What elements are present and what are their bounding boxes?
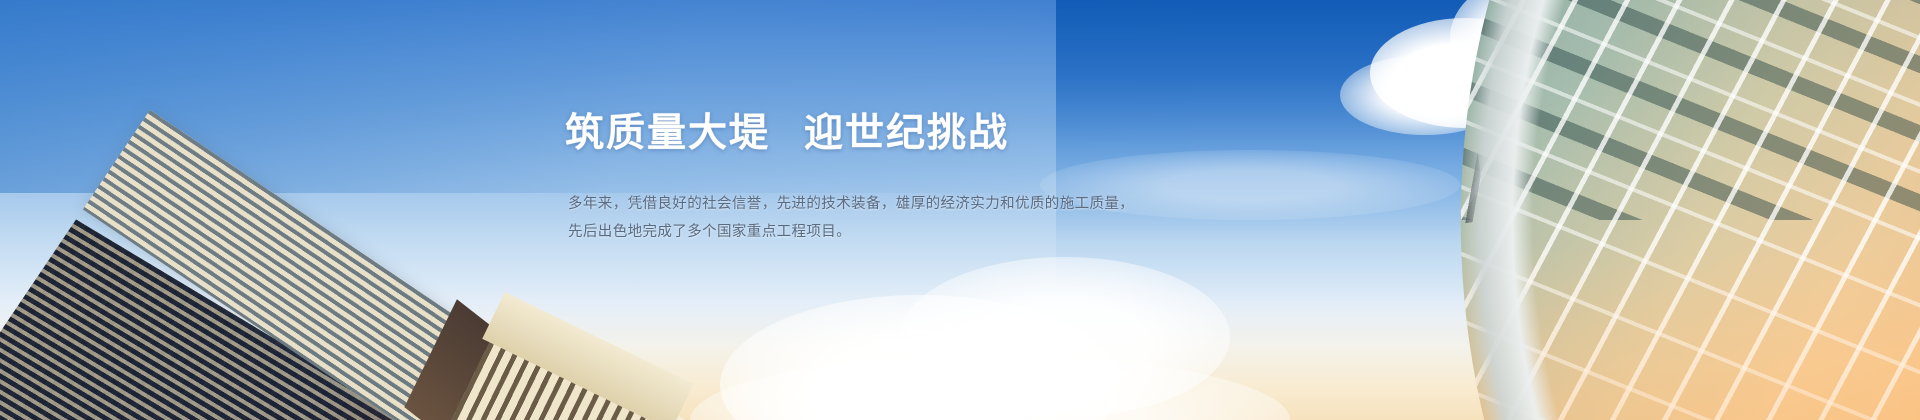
tower-banded-facade: [83, 110, 581, 420]
haze-cloud-left: [0, 300, 460, 420]
cloud-puff: [900, 257, 1230, 417]
cloud-puff: [690, 355, 1290, 420]
subtitle-line-2: 先后出色地完成了多个国家重点工程项目。: [568, 218, 1125, 246]
secondary-building: [439, 292, 711, 420]
tower-crown: [478, 304, 704, 420]
glass-reflection-bands: [1258, 0, 1920, 220]
cloud-puff: [0, 340, 360, 420]
cloud-puff: [1450, 0, 1600, 98]
headline-part-1: 筑质量大堤: [565, 112, 770, 155]
curtain-wall-mullions-primary: [1180, 0, 1920, 420]
curved-glass-building: [1180, 0, 1920, 420]
cloud-puff: [1370, 18, 1560, 128]
secondary-building-roof: [482, 292, 694, 420]
secondary-building-louvers: [446, 331, 678, 420]
warm-light-overlay: [1180, 246, 1920, 420]
cumulus-cloud-center: [690, 235, 1310, 420]
cloud-puff: [1340, 55, 1510, 135]
cumulus-cloud-top-right: [1330, 0, 1630, 150]
banner-text-block: 筑质量大堤迎世纪挑战 多年来，凭借良好的社会信誉，先进的技术装备，雄厚的经济实力…: [565, 108, 1125, 246]
cloud-puff: [720, 295, 1120, 420]
window-slots: [1278, 49, 1487, 245]
building-curved-edge: [1180, 0, 1920, 420]
hero-banner: 筑质量大堤迎世纪挑战 多年来，凭借良好的社会信誉，先进的技术装备，雄厚的经济实力…: [0, 0, 1920, 420]
secondary-building-shadow: [404, 299, 505, 420]
tower-shadow: [161, 381, 543, 420]
tower-louvers: [468, 347, 645, 420]
curtain-wall-mullions-cross: [1180, 0, 1920, 420]
subtitle-line-1: 多年来，凭借良好的社会信誉，先进的技术装备，雄厚的经济实力和优质的施工质量，: [568, 190, 1125, 218]
banner-headline: 筑质量大堤迎世纪挑战: [565, 108, 1125, 160]
sky-gradient-overlay-right: [1056, 0, 1920, 420]
tower-glass-facade: [0, 220, 540, 420]
banner-subtitle: 多年来，凭借良好的社会信誉，先进的技术装备，雄厚的经济实力和优质的施工质量， 先…: [568, 190, 1125, 246]
headline-part-2: 迎世纪挑战: [804, 112, 1009, 155]
